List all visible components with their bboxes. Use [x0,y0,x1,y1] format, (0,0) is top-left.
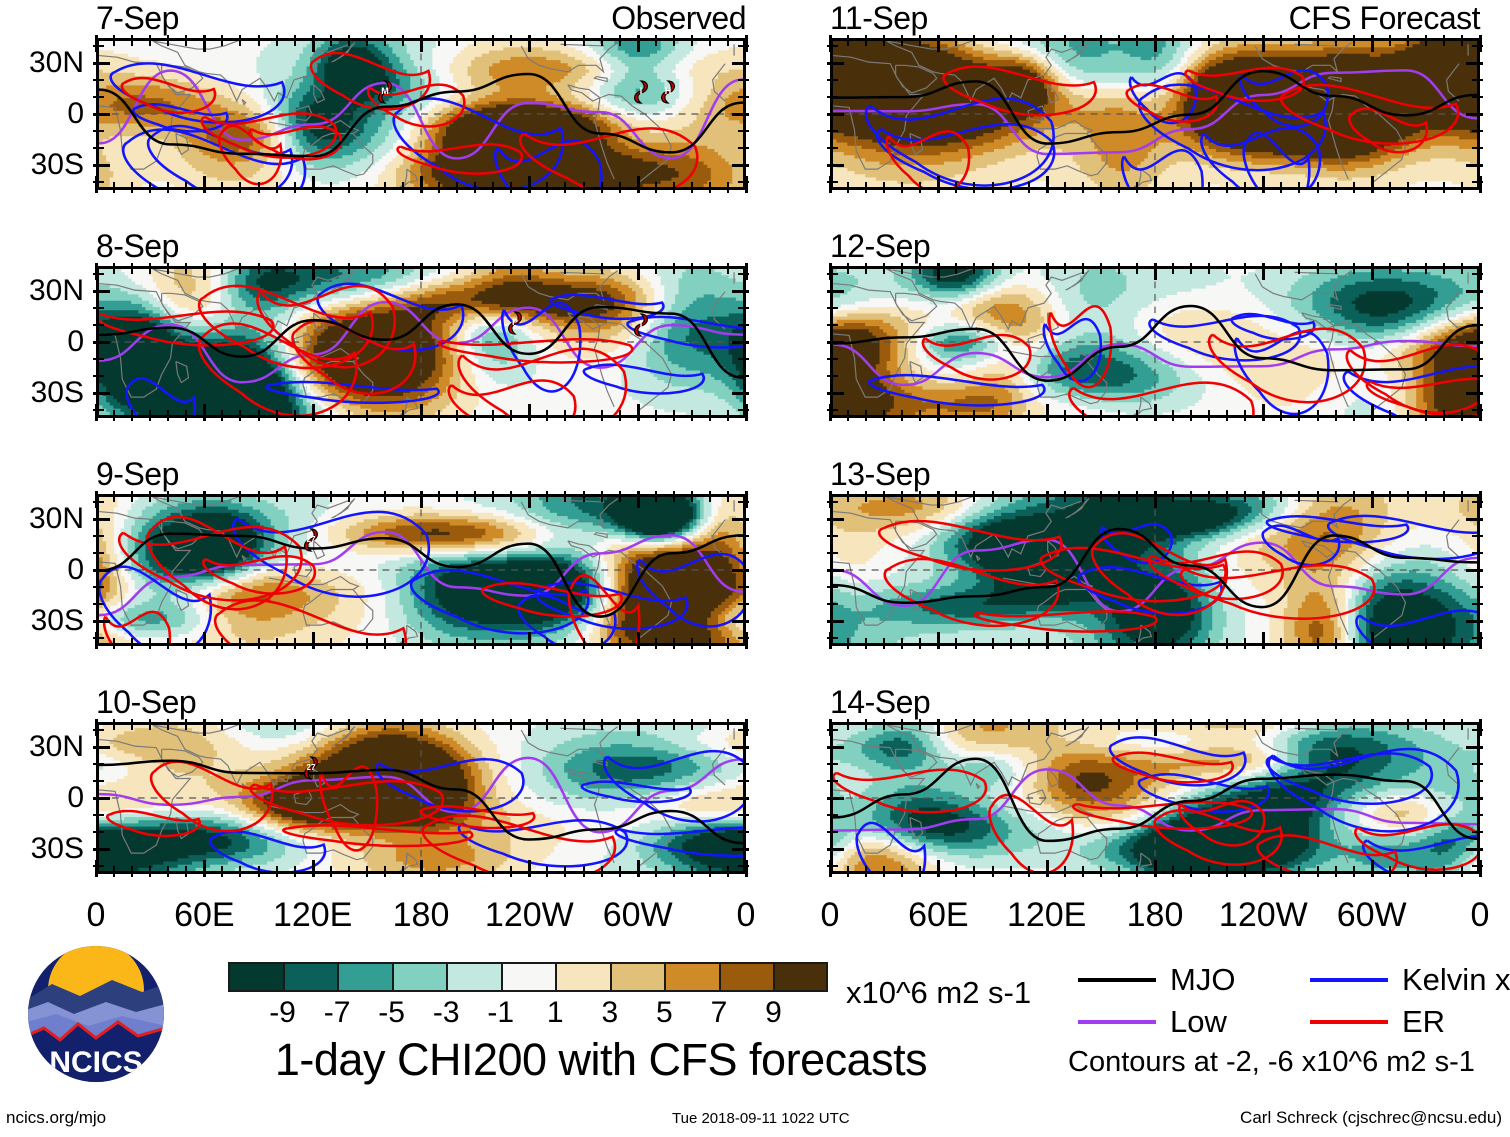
x-tick [637,263,640,280]
x-tick [745,263,748,280]
y-tick [1466,746,1483,749]
x-tick [366,35,368,46]
x-tick [1226,491,1228,502]
x-tick [474,263,476,274]
x-tick [901,182,903,193]
x-tick [1100,263,1102,274]
x-tick [348,35,350,46]
x-tick [919,491,921,502]
y-tick [1472,181,1483,183]
x-tick [1407,719,1409,730]
y-tick [93,729,104,731]
x-tick [438,263,440,274]
x-tick [1010,491,1012,502]
x-tick [601,638,603,649]
y-tick [827,392,844,395]
x-tick [456,491,458,502]
y-tick [738,324,749,326]
x-tick [1407,866,1409,877]
x-tick [402,410,404,421]
x-tick [1226,638,1228,649]
x-tick [1335,866,1337,877]
x-tick [1208,491,1210,502]
x-tick [1353,866,1355,877]
x-tick [1353,719,1355,730]
y-tick [93,290,110,293]
x-tick [1425,182,1427,193]
x-tick [883,491,885,502]
x-tick [1353,638,1355,649]
x-tick [1280,182,1282,193]
x-tick [673,182,675,193]
x-tick [203,860,206,877]
colorbar-swatch [555,962,610,992]
panel-8-sep: 8-SepPI30N030S [96,266,746,418]
x-tick [1280,491,1282,502]
x-tick [1479,491,1482,508]
y-tick [1466,620,1483,623]
x-tick [865,866,867,877]
x-tick [312,404,315,421]
x-tick [709,35,711,46]
x-tick [564,410,566,421]
x-tick [727,866,729,877]
x-tick [1371,491,1374,508]
x-tick [1425,719,1427,730]
x-tick [1389,866,1391,877]
colorbar-swatch [719,962,774,992]
x-axis-tick-label: 60W [1337,896,1407,935]
x-tick [1461,263,1463,274]
x-tick [402,866,404,877]
x-tick [691,263,693,274]
x-tick [709,182,711,193]
x-tick [601,410,603,421]
panel-12-sep: 12-Sep [830,266,1480,418]
x-tick [167,410,169,421]
x-tick [312,35,315,52]
x-tick [1244,491,1246,502]
storm-marker-icon: M [374,79,396,105]
y-tick [827,324,838,326]
x-tick [1443,263,1445,274]
y-tick [93,164,110,167]
x-tick [564,35,566,46]
x-tick [167,866,169,877]
y-tick [732,392,749,395]
x-tick [1172,263,1174,274]
y-tick [93,831,104,833]
x-tick [294,35,296,46]
x-tick [1335,182,1337,193]
colorbar-units: x10^6 m2 s-1 [846,975,1031,1011]
x-tick [131,719,133,730]
x-tick [1082,35,1084,46]
x-tick [1136,866,1138,877]
x-tick [1010,182,1012,193]
y-tick [1466,569,1483,572]
x-tick [113,491,115,502]
x-tick [601,491,603,502]
x-tick [474,35,476,46]
x-tick [1317,719,1319,730]
x-tick [546,263,548,274]
x-tick [973,866,975,877]
y-tick [93,552,104,554]
y-tick [732,113,749,116]
y-tick [827,763,838,765]
x-tick [1371,263,1374,280]
x-tick [384,410,386,421]
y-tick [93,79,104,81]
x-tick [474,719,476,730]
y-tick [827,637,838,639]
x-tick [1389,638,1391,649]
x-axis-tick-label: 0 [821,896,840,935]
x-tick [276,638,278,649]
x-tick [883,638,885,649]
x-tick [510,182,512,193]
x-tick [528,176,531,193]
x-tick [1010,638,1012,649]
legend-label: ER [1402,1004,1445,1040]
y-tick [738,79,749,81]
x-tick [149,638,151,649]
panel-11-sep: 11-SepCFS Forecast [830,38,1480,190]
x-tick [1154,404,1157,421]
x-tick [276,263,278,274]
colorbar-tick-label: -9 [269,996,296,1030]
x-tick [185,638,187,649]
y-axis-labels: 30N030S [0,266,92,418]
y-tick [1472,273,1483,275]
x-tick [745,176,748,193]
x-tick [402,719,404,730]
y-tick [93,341,110,344]
x-tick [601,35,603,46]
y-tick [738,637,749,639]
y-tick [738,409,749,411]
x-tick [601,719,603,730]
map-canvas [96,494,746,646]
x-tick [402,263,404,274]
x-tick [1190,35,1192,46]
y-tick [827,341,844,344]
x-tick [1226,263,1228,274]
x-tick [691,866,693,877]
x-tick [492,866,494,877]
y-tick [1472,814,1483,816]
x-tick [727,719,729,730]
x-tick [348,719,350,730]
y-tick [1472,603,1483,605]
x-tick [655,263,657,274]
colorbar: -9-7-5-3-113579 [228,962,828,992]
x-tick [528,632,531,649]
x-tick [420,491,423,508]
x-tick [1280,35,1282,46]
x-tick [1208,263,1210,274]
y-tick [93,45,104,47]
y-tick [738,763,749,765]
x-tick [1353,491,1355,502]
y-tick [738,273,749,275]
x-tick [1100,35,1102,46]
x-tick [1154,35,1157,52]
y-tick [827,729,838,731]
y-tick [827,62,844,65]
x-tick [709,638,711,649]
x-tick [1280,638,1282,649]
x-tick [919,182,921,193]
x-tick [865,410,867,421]
x-tick [1317,638,1319,649]
x-tick [955,35,957,46]
x-tick [258,866,260,877]
x-tick [1154,176,1157,193]
panel-7-sep: 7-SepObservedMIH30N030S [96,38,746,190]
x-tick [1064,35,1066,46]
x-tick [1353,35,1355,46]
x-tick [1353,410,1355,421]
x-tick [546,866,548,877]
x-tick [1479,719,1482,736]
x-axis-tick-label: 60E [908,896,969,935]
x-tick [258,491,260,502]
x-tick [883,410,885,421]
x-axis-tick-label: 120E [273,896,352,935]
x-tick [167,719,169,730]
panel-grid: 7-SepObservedMIH30N030S8-SepPI30N030S9-S… [0,0,1510,920]
y-tick [827,45,838,47]
y-tick [827,848,844,851]
x-tick [1425,263,1427,274]
x-tick [1208,638,1210,649]
x-tick [474,866,476,877]
panel-13-sep: 13-Sep [830,494,1480,646]
x-tick [865,719,867,730]
x-tick [955,638,957,649]
legend-line-swatch [1078,978,1156,982]
x-tick [847,866,849,877]
x-tick [583,866,585,877]
x-tick [1298,182,1300,193]
x-tick [1244,719,1246,730]
x-tick [312,263,315,280]
x-tick [727,263,729,274]
x-tick [637,860,640,877]
x-tick [564,638,566,649]
x-tick [973,263,975,274]
x-tick [366,410,368,421]
x-tick [1461,182,1463,193]
y-tick [93,96,104,98]
x-tick [1461,638,1463,649]
y-tick [738,603,749,605]
x-tick [919,410,921,421]
x-tick [438,491,440,502]
x-tick [1479,263,1482,280]
x-tick [1389,410,1391,421]
y-tick [1472,780,1483,782]
x-tick [510,263,512,274]
x-tick [185,182,187,193]
x-tick [185,35,187,46]
y-tick [738,586,749,588]
y-tick [732,290,749,293]
x-tick [510,491,512,502]
y-tick [738,865,749,867]
x-tick [1262,632,1265,649]
x-tick [113,182,115,193]
colorbar-tick-label: 7 [711,996,728,1030]
y-tick [827,375,838,377]
x-tick [1317,263,1319,274]
y-tick [93,746,110,749]
x-tick [1208,35,1210,46]
x-tick [330,35,332,46]
x-tick [1010,35,1012,46]
y-tick [738,814,749,816]
x-tick [474,638,476,649]
x-tick [420,719,423,736]
x-tick [1389,263,1391,274]
x-tick [330,263,332,274]
x-tick [203,176,206,193]
y-tick [738,307,749,309]
x-tick [185,866,187,877]
x-tick [239,719,241,730]
x-tick [384,491,386,502]
x-tick [276,719,278,730]
x-tick [1389,719,1391,730]
y-tick [1472,831,1483,833]
storm-marker-icon: H [657,79,679,105]
x-tick [691,410,693,421]
x-tick [402,182,404,193]
x-tick [1082,182,1084,193]
x-tick [203,632,206,649]
y-axis-tick-label: 30N [29,46,84,80]
x-tick [1118,491,1120,502]
panel-14-sep: 14-Sep060E120E180120W60W0 [830,722,1480,874]
x-tick [1064,263,1066,274]
x-tick [1190,866,1192,877]
x-tick [420,263,423,280]
x-tick [1479,35,1482,52]
colorbar-swatch [228,962,283,992]
x-tick [1028,719,1030,730]
x-tick [1443,866,1445,877]
x-tick [655,638,657,649]
y-tick [827,96,838,98]
x-tick [1190,638,1192,649]
x-tick [131,410,133,421]
y-tick [827,831,838,833]
x-tick [1461,491,1463,502]
x-tick [1082,491,1084,502]
y-tick [738,130,749,132]
x-tick [1118,866,1120,877]
x-tick [1298,263,1300,274]
x-tick [1443,719,1445,730]
y-tick [1472,45,1483,47]
x-tick [847,35,849,46]
x-tick [492,182,494,193]
y-tick [1466,62,1483,65]
x-tick [348,182,350,193]
x-tick [1028,866,1030,877]
footer-left[interactable]: ncics.org/mjo [6,1108,106,1128]
x-tick [1389,182,1391,193]
x-tick [1064,719,1066,730]
x-tick [1262,719,1265,736]
x-tick [384,263,386,274]
x-tick [1172,35,1174,46]
colorbar-tick-label: 3 [601,996,618,1030]
x-tick [1028,182,1030,193]
x-tick [1335,35,1337,46]
x-tick [131,866,133,877]
x-tick [1371,719,1374,736]
panel-9-sep: 9-Sep2730N030S [96,494,746,646]
x-tick [1407,410,1409,421]
x-tick [655,719,657,730]
x-tick [1136,263,1138,274]
y-tick [93,535,104,537]
x-tick [167,182,169,193]
x-tick [1317,866,1319,877]
x-tick [239,410,241,421]
y-tick [732,569,749,572]
x-tick [1244,638,1246,649]
y-tick [827,865,838,867]
panel-date-label: 7-Sep [96,0,179,37]
y-tick [93,62,110,65]
x-tick [865,263,867,274]
x-tick [1280,719,1282,730]
x-tick [294,491,296,502]
x-tick [528,860,531,877]
y-tick [1472,79,1483,81]
footer-author: Carl Schreck (cjschrec@ncsu.edu) [1240,1108,1502,1128]
x-tick [829,491,832,508]
x-tick [221,182,223,193]
x-tick [937,263,940,280]
x-tick [348,866,350,877]
x-tick [673,263,675,274]
x-tick [691,491,693,502]
x-tick [829,176,832,193]
x-tick [637,719,640,736]
y-tick [738,729,749,731]
x-tick [276,491,278,502]
colorbar-swatch [664,962,719,992]
y-tick [1472,865,1483,867]
x-tick [1190,182,1192,193]
x-tick [1443,35,1445,46]
map-canvas [96,722,746,874]
x-tick [619,263,621,274]
map-canvas [830,722,1480,874]
x-tick [901,35,903,46]
x-tick [1100,866,1102,877]
x-tick [1046,719,1049,736]
x-tick [420,632,423,649]
x-tick [1226,182,1228,193]
legend-line-swatch [1310,978,1388,982]
x-tick [865,35,867,46]
